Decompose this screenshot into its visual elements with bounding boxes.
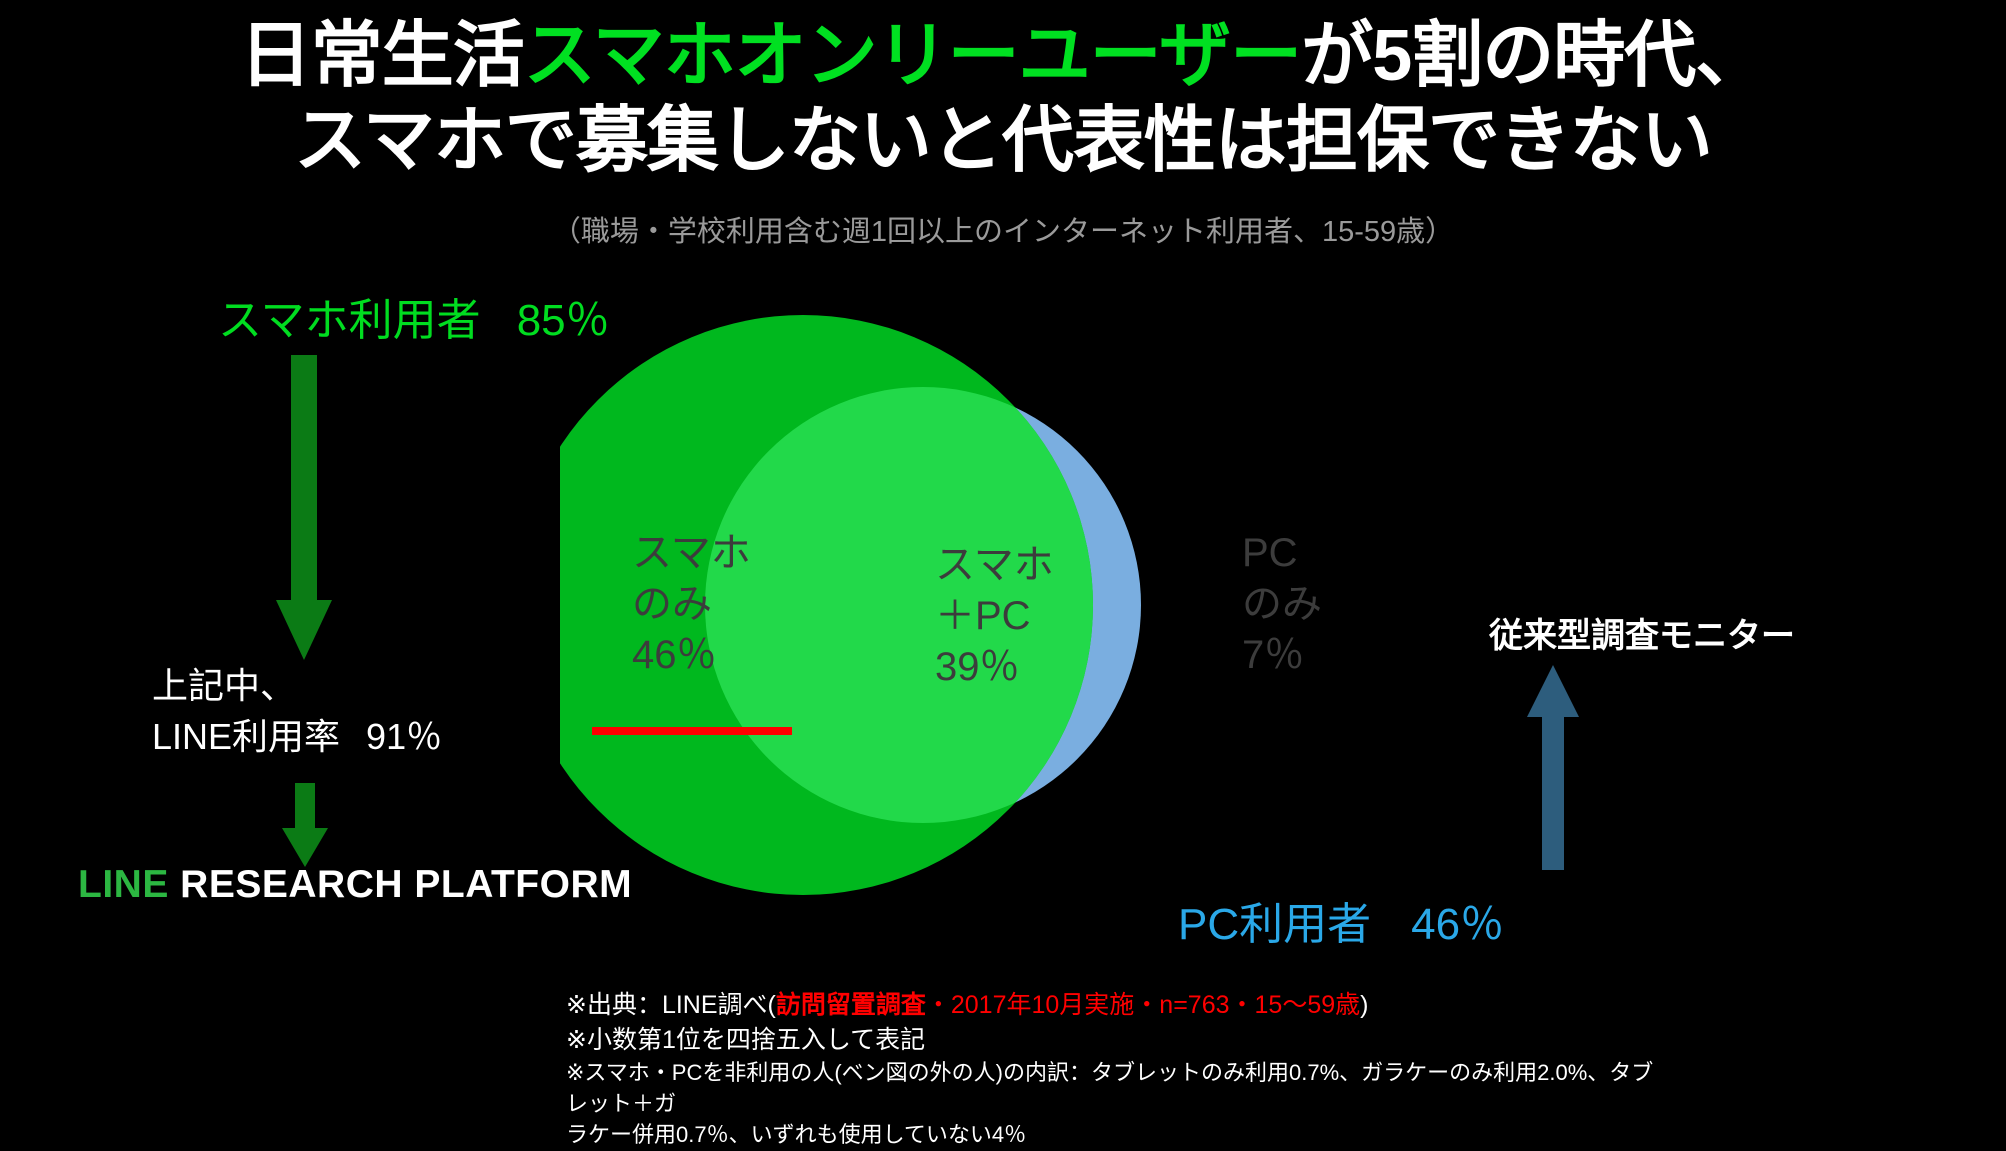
venn-label-both-line2: ＋PC [935, 591, 1054, 642]
title-line-1-prefix: 日常生活 [240, 16, 524, 96]
line-usage-line-2: LINE利用率91％ [152, 711, 442, 762]
venn-label-pc-only: PC のみ 7％ [1242, 528, 1322, 682]
venn-label-pc-only-value: 7％ [1242, 630, 1322, 681]
venn-label-smartphone-only-line1: スマホ [632, 528, 751, 579]
title-line-2: スマホで募集しないと代表性は担保できない [0, 99, 2006, 184]
footnote-source: ※出典：LINE調べ(訪問留置調査・2017年10月実施・n=763・15〜59… [566, 988, 1666, 1023]
line-usage-value: 91％ [366, 716, 442, 757]
subtitle: （職場・学校利用含む週1回以上のインターネット利用者、15-59歳） [0, 208, 2006, 250]
smartphone-users-text: スマホ利用者 [218, 296, 481, 345]
footnote-source-survey: 訪問留置調査 [776, 991, 926, 1019]
page-title: 日常生活スマホオンリーユーザーが5割の時代、 スマホで募集しないと代表性は担保で… [0, 14, 2006, 184]
slide-canvas: 日常生活スマホオンリーユーザーが5割の時代、 スマホで募集しないと代表性は担保で… [0, 0, 2006, 1120]
venn-label-smartphone-only-value: 46％ [632, 630, 751, 681]
footnote-breakdown-line-1: ※スマホ・PCを非利用の人(ベン図の外の人)の内訳：タブレットのみ利用0.7%、… [566, 1057, 1666, 1119]
title-highlight: スマホオンリーユーザー [524, 16, 1301, 96]
traditional-monitor-label: 従来型調査モニター [1489, 608, 1795, 657]
venn-label-pc-only-line2: のみ [1242, 579, 1322, 630]
venn-label-smartphone-and-pc: スマホ ＋PC 39％ [935, 540, 1054, 694]
venn-label-smartphone-only: スマホ のみ 46％ [632, 528, 751, 682]
venn-label-both-value: 39％ [935, 642, 1054, 693]
line-research-platform-label: LINE RESEARCH PLATFORM [78, 863, 632, 907]
down-arrow-icon-short [282, 783, 328, 867]
red-emphasis-underline [592, 727, 792, 735]
line-usage-line-1: 上記中、 [152, 660, 442, 711]
footnote-source-rest: ・2017年10月実施・n=763・15〜59歳 [926, 991, 1360, 1019]
pc-users-value: 46％ [1411, 900, 1504, 949]
footnote-breakdown-line-2: ラケー併用0.7％、いずれも使用していない4％ [566, 1119, 1666, 1150]
line-brand-text: LINE [78, 863, 169, 906]
down-arrow-icon-long [276, 355, 332, 660]
line-usage-note: 上記中、 LINE利用率91％ [152, 660, 442, 762]
title-line-1-suffix: が5割の時代、 [1301, 16, 1766, 96]
footnotes: ※出典：LINE調べ(訪問留置調査・2017年10月実施・n=763・15〜59… [566, 988, 1666, 1151]
up-arrow-icon [1527, 665, 1579, 870]
footnote-source-prefix: ※出典：LINE調べ( [566, 991, 776, 1019]
venn-label-pc-only-line1: PC [1242, 528, 1322, 579]
smartphone-users-label: スマホ利用者85％ [218, 284, 610, 348]
title-line-1: 日常生活スマホオンリーユーザーが5割の時代、 [0, 14, 2006, 99]
footnote-source-close: ) [1360, 991, 1368, 1019]
venn-label-both-line1: スマホ [935, 540, 1054, 591]
line-usage-text: LINE利用率 [152, 716, 340, 757]
venn-label-smartphone-only-line2: のみ [632, 579, 751, 630]
footnote-rounding: ※小数第1位を四捨五入して表記 [566, 1023, 1666, 1058]
